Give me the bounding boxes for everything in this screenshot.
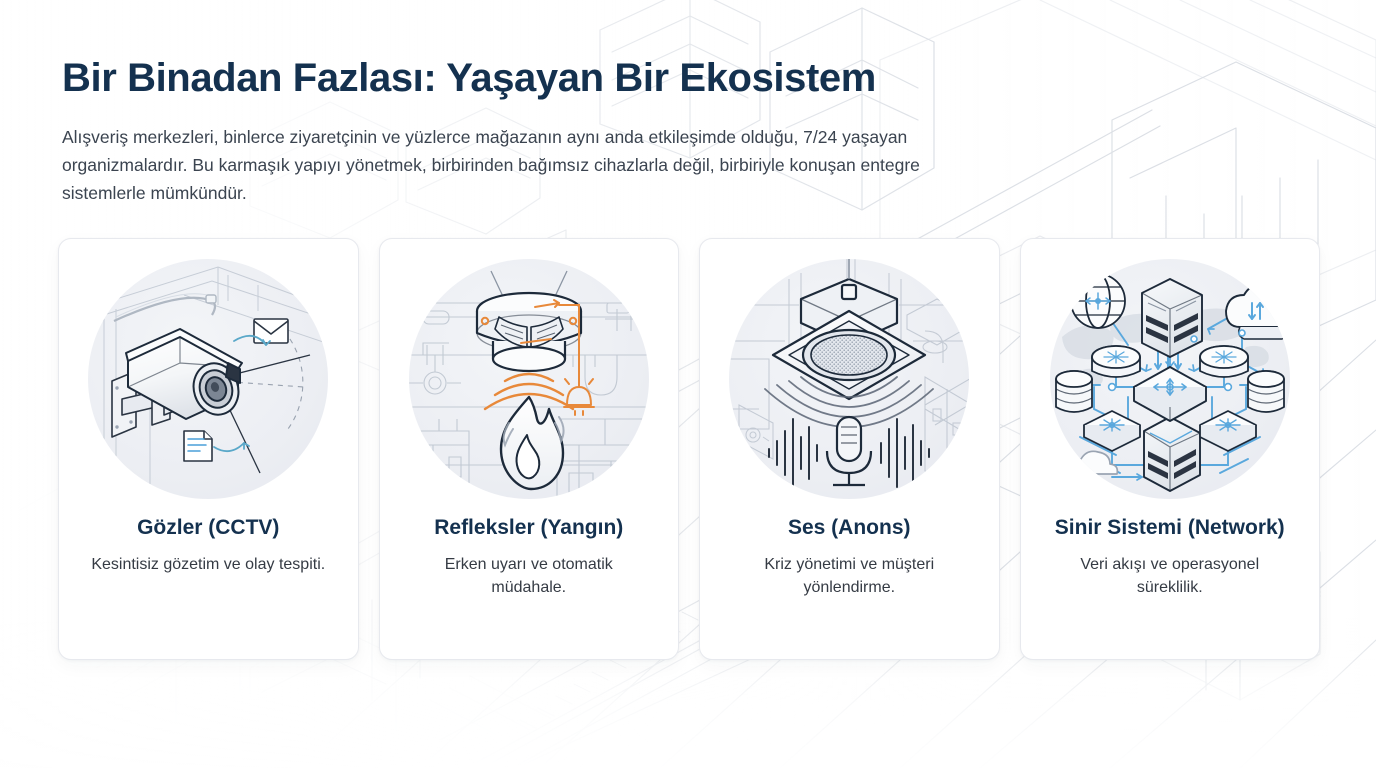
feature-card-announcement[interactable]: Ses (Anons) Kriz yönetimi ve müşteri yön…	[699, 238, 1000, 660]
card-desc-announcement: Kriz yönetimi ve müşteri yönlendirme.	[732, 554, 967, 599]
card-title-network: Sinir Sistemi (Network)	[1055, 515, 1285, 540]
feature-card-fire[interactable]: Refleksler (Yangın) Erken uyarı ve otoma…	[379, 238, 680, 660]
smoke-detector-fire-icon	[409, 259, 649, 499]
network-illustration-svg	[1050, 259, 1290, 499]
fire-illustration-svg	[409, 259, 649, 499]
ceiling-speaker-icon	[729, 259, 969, 499]
feature-card-cctv[interactable]: Gözler (CCTV) Kesintisiz gözetim ve olay…	[58, 238, 359, 660]
card-title-announcement: Ses (Anons)	[788, 515, 911, 540]
poster-canvas: Bir Binadan Fazlası: Yaşayan Bir Ekosist…	[0, 0, 1376, 768]
cctv-illustration-svg	[88, 259, 328, 499]
card-title-cctv: Gözler (CCTV)	[137, 515, 279, 540]
card-desc-fire: Erken uyarı ve otomatik müdahale.	[411, 554, 646, 599]
header: Bir Binadan Fazlası: Yaşayan Bir Ekosist…	[62, 56, 992, 208]
network-topology-icon	[1050, 259, 1290, 499]
feature-card-row: Gözler (CCTV) Kesintisiz gözetim ve olay…	[58, 238, 1320, 660]
feature-card-network[interactable]: Sinir Sistemi (Network) Veri akışı ve op…	[1020, 238, 1321, 660]
card-desc-cctv: Kesintisiz gözetim ve olay tespiti.	[91, 554, 325, 577]
page-subtitle: Alışveriş merkezleri, binlerce ziyaretçi…	[62, 123, 967, 208]
cctv-camera-icon	[88, 259, 328, 499]
announcement-illustration-svg	[729, 259, 969, 499]
card-desc-network: Veri akışı ve operasyonel süreklilik.	[1052, 554, 1287, 599]
card-title-fire: Refleksler (Yangın)	[434, 515, 623, 540]
page-title: Bir Binadan Fazlası: Yaşayan Bir Ekosist…	[62, 56, 992, 101]
